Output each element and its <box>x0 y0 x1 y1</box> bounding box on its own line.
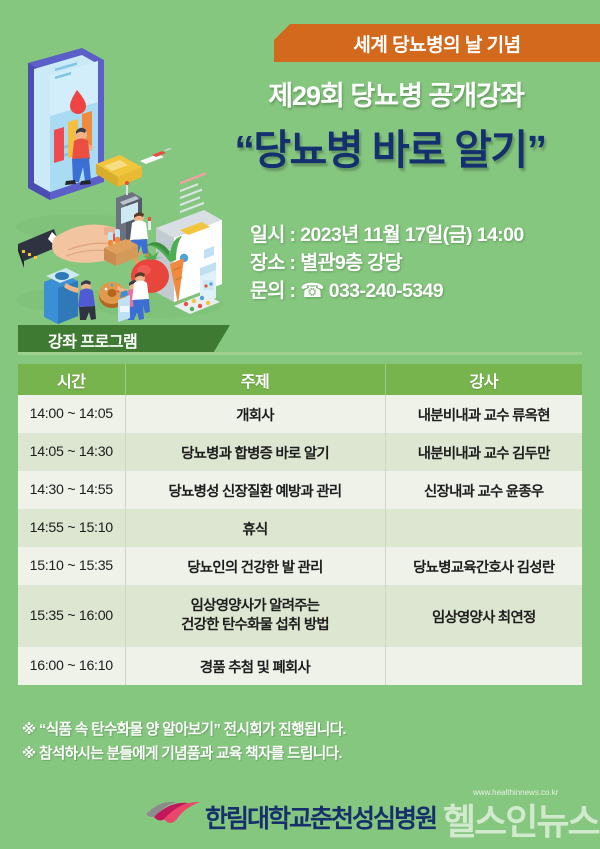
row-topic: 휴식 <box>125 509 385 547</box>
row-speaker <box>385 647 582 685</box>
table-row: 14:55 ~ 15:10 휴식 <box>18 509 582 547</box>
trash-bin-graphic <box>44 268 80 324</box>
column-header-speaker: 강사 <box>385 364 582 395</box>
row-speaker: 신장내과 교수 윤종우 <box>385 471 582 509</box>
event-datetime: 일시 : 2023년 11월 17일(금) 14:00 <box>250 221 600 249</box>
ribbon-label: 세계 당뇨병의 날 기념 <box>353 30 520 57</box>
row-time: 14:05 ~ 14:30 <box>18 433 125 471</box>
row-topic-line2: 건강한 탄수화물 섭취 방법 <box>128 616 383 635</box>
lecture-main-title: “당뇨병 바로 알기” <box>188 113 592 179</box>
table-row: 15:35 ~ 16:00 임상영양사가 알려주는 건강한 탄수화물 섭취 방법… <box>18 585 582 647</box>
column-header-topic: 주제 <box>125 364 385 395</box>
table-row: 15:10 ~ 15:35 당뇨인의 건강한 발 관리 당뇨병교육간호사 김성란 <box>18 547 582 585</box>
table-row: 14:30 ~ 14:55 당뇨병성 신장질환 예방과 관리 신장내과 교수 윤… <box>18 471 582 509</box>
row-topic: 당뇨병성 신장질환 예방과 관리 <box>125 471 385 509</box>
row-topic: 임상영양사가 알려주는 건강한 탄수화물 섭취 방법 <box>125 585 385 647</box>
program-table-body: 14:00 ~ 14:05 개회사 내분비내과 교수 류옥현 14:05 ~ 1… <box>18 395 582 685</box>
row-topic-line1: 임상영양사가 알려주는 <box>128 597 383 616</box>
row-time: 14:55 ~ 15:10 <box>18 509 125 547</box>
table-row: 16:00 ~ 16:10 경품 추첨 및 폐회사 <box>18 647 582 685</box>
news-watermark-url: www.healthinnews.co.kr <box>473 788 558 797</box>
footnotes-block: ※ “식품 속 탄수화물 양 알아보기” 전시회가 진행됩니다. ※ 참석하시는… <box>22 718 542 766</box>
poster-footer: 한림대학교춘천성심병원 헬스인뉴스 www.healthinnews.co.kr <box>0 784 600 849</box>
hospital-name: 한림대학교춘천성심병원 <box>205 799 436 835</box>
section-divider <box>18 352 582 355</box>
row-speaker <box>385 509 582 547</box>
hospital-logo-icon <box>144 797 202 827</box>
row-topic: 당뇨인의 건강한 발 관리 <box>125 547 385 585</box>
row-speaker: 내분비내과 교수 김두만 <box>385 433 582 471</box>
event-ribbon-banner: 세계 당뇨병의 날 기념 <box>274 24 600 62</box>
footnote-exhibition: ※ “식품 속 탄수화물 양 알아보기” 전시회가 진행됩니다. <box>22 718 542 742</box>
row-time: 14:30 ~ 14:55 <box>18 471 125 509</box>
row-topic: 개회사 <box>125 395 385 433</box>
event-info-block: 일시 : 2023년 11월 17일(금) 14:00 장소 : 별관9층 강당… <box>250 221 600 305</box>
event-location: 장소 : 별관9층 강당 <box>250 249 600 277</box>
row-topic: 경품 추첨 및 폐회사 <box>125 647 385 685</box>
row-speaker: 당뇨병교육간호사 김성란 <box>385 547 582 585</box>
event-contact-phone: 문의 : ☎ 033-240-5349 <box>250 277 600 305</box>
program-schedule-table: 시간 주제 강사 14:00 ~ 14:05 개회사 내분비내과 교수 류옥현 … <box>18 364 582 685</box>
diabetes-illustration <box>8 42 230 330</box>
table-header-row: 시간 주제 강사 <box>18 364 582 395</box>
row-speaker: 임상영양사 최연정 <box>385 585 582 647</box>
small-lancet-icon <box>148 217 151 230</box>
row-time: 15:10 ~ 15:35 <box>18 547 125 585</box>
lecture-series-title: 제29회 당뇨병 공개강좌 <box>200 74 592 112</box>
lancet-pen-graphic <box>96 148 172 187</box>
table-row: 14:05 ~ 14:30 당뇨병과 합병증 바로 알기 내분비내과 교수 김두… <box>18 433 582 471</box>
program-section-tab: 강좌 프로그램 <box>18 325 230 355</box>
row-topic: 당뇨병과 합병증 바로 알기 <box>125 433 385 471</box>
row-time: 14:00 ~ 14:05 <box>18 395 125 433</box>
row-time: 15:35 ~ 16:00 <box>18 585 125 647</box>
poster-root: 세계 당뇨병의 날 기념 제29회 당뇨병 공개강좌 “당뇨병 바로 알기” 일… <box>0 0 600 849</box>
news-watermark: 헬스인뉴스 <box>443 793 599 845</box>
table-row: 14:00 ~ 14:05 개회사 내분비내과 교수 류옥현 <box>18 395 582 433</box>
phone-chart-graphic <box>28 48 104 200</box>
row-speaker: 내분비내과 교수 류옥현 <box>385 395 582 433</box>
column-header-time: 시간 <box>18 364 125 395</box>
program-section-title: 강좌 프로그램 <box>18 328 137 352</box>
row-time: 16:00 ~ 16:10 <box>18 647 125 685</box>
footnote-gift: ※ 참석하시는 분들에게 기념품과 교육 책자를 드립니다. <box>22 742 542 766</box>
